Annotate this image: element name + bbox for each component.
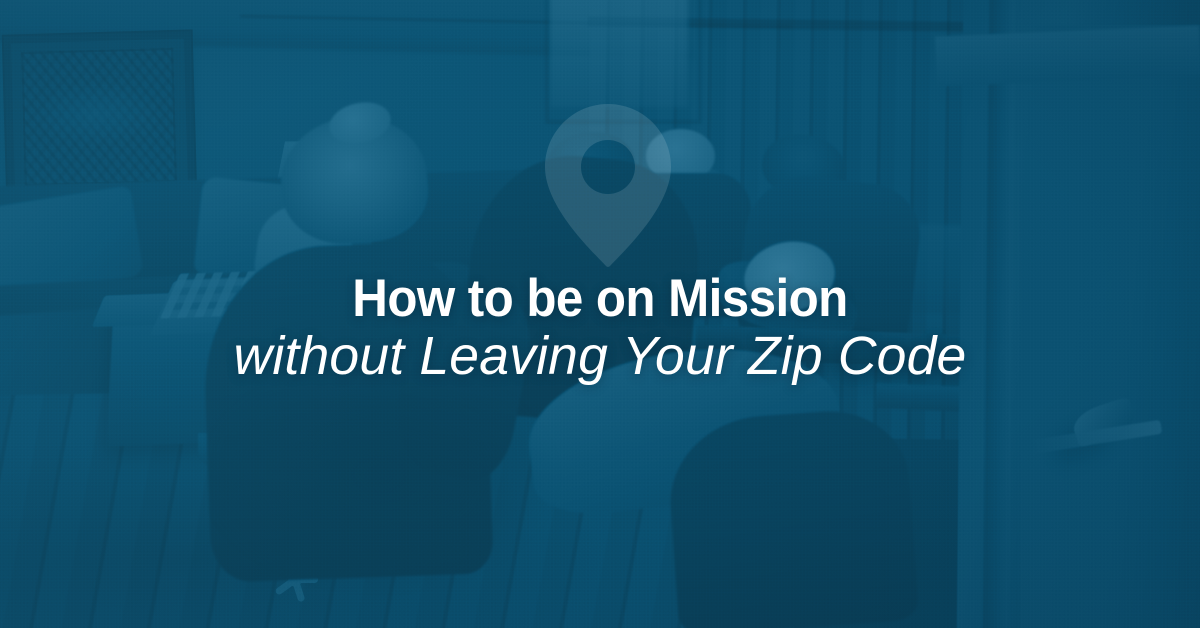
vignette [0, 0, 1200, 628]
blog-header-banner: serve the How to be [0, 0, 1200, 628]
